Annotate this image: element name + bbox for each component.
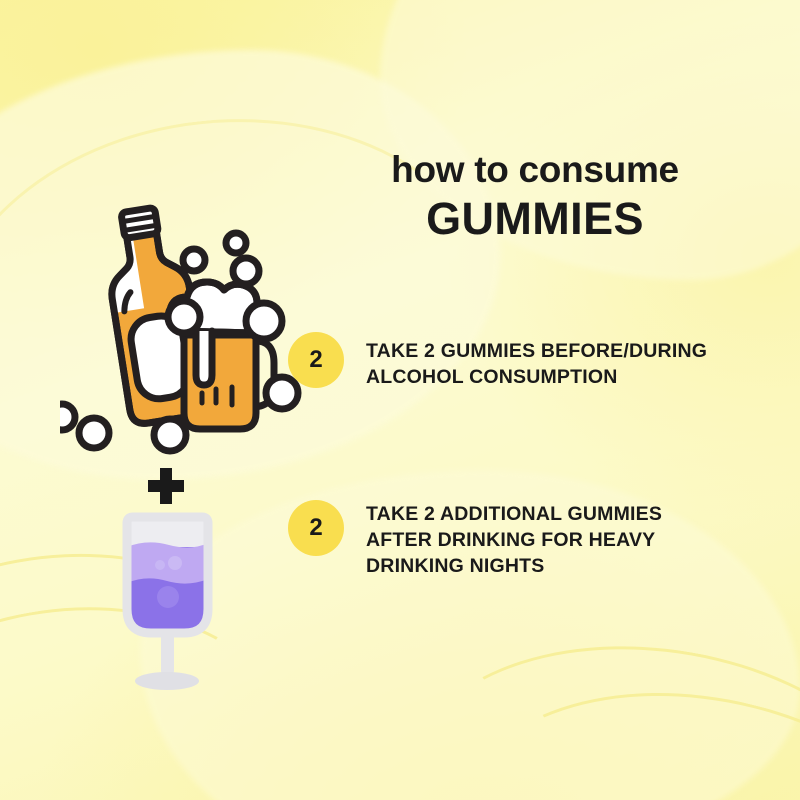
glass-base <box>135 672 199 690</box>
bubble-icon <box>168 301 200 333</box>
wine-glass-illustration <box>105 505 230 695</box>
step-item-1: 2 TAKE 2 GUMMIES BEFORE/DURING ALCOHOL C… <box>288 330 758 390</box>
infographic-poster: how to consume GUMMIES <box>0 0 800 800</box>
beer-bottle-and-mug-illustration <box>60 195 310 460</box>
bubble-icon <box>154 419 186 451</box>
title-line-primary: how to consume <box>300 150 770 189</box>
bubble-icon <box>79 418 109 448</box>
bubble-icon <box>60 404 75 430</box>
bubble-icon <box>183 249 205 271</box>
purple-liquid <box>127 542 208 637</box>
step-badge-2: 2 <box>288 500 344 556</box>
plus-icon <box>148 468 184 504</box>
step-text-2: TAKE 2 ADDITIONAL GUMMIES AFTER DRINKING… <box>366 498 728 579</box>
bubble-icon <box>233 258 259 284</box>
title-line-emphasis: GUMMIES <box>300 195 770 243</box>
step-item-2: 2 TAKE 2 ADDITIONAL GUMMIES AFTER DRINKI… <box>288 498 728 579</box>
bubble-icon <box>226 233 246 253</box>
step-text-1: TAKE 2 GUMMIES BEFORE/DURING ALCOHOL CON… <box>366 330 758 390</box>
step-badge-1: 2 <box>288 332 344 388</box>
glass-stem <box>161 631 174 675</box>
bubble-icon <box>246 303 282 339</box>
page-title: how to consume GUMMIES <box>300 150 770 243</box>
